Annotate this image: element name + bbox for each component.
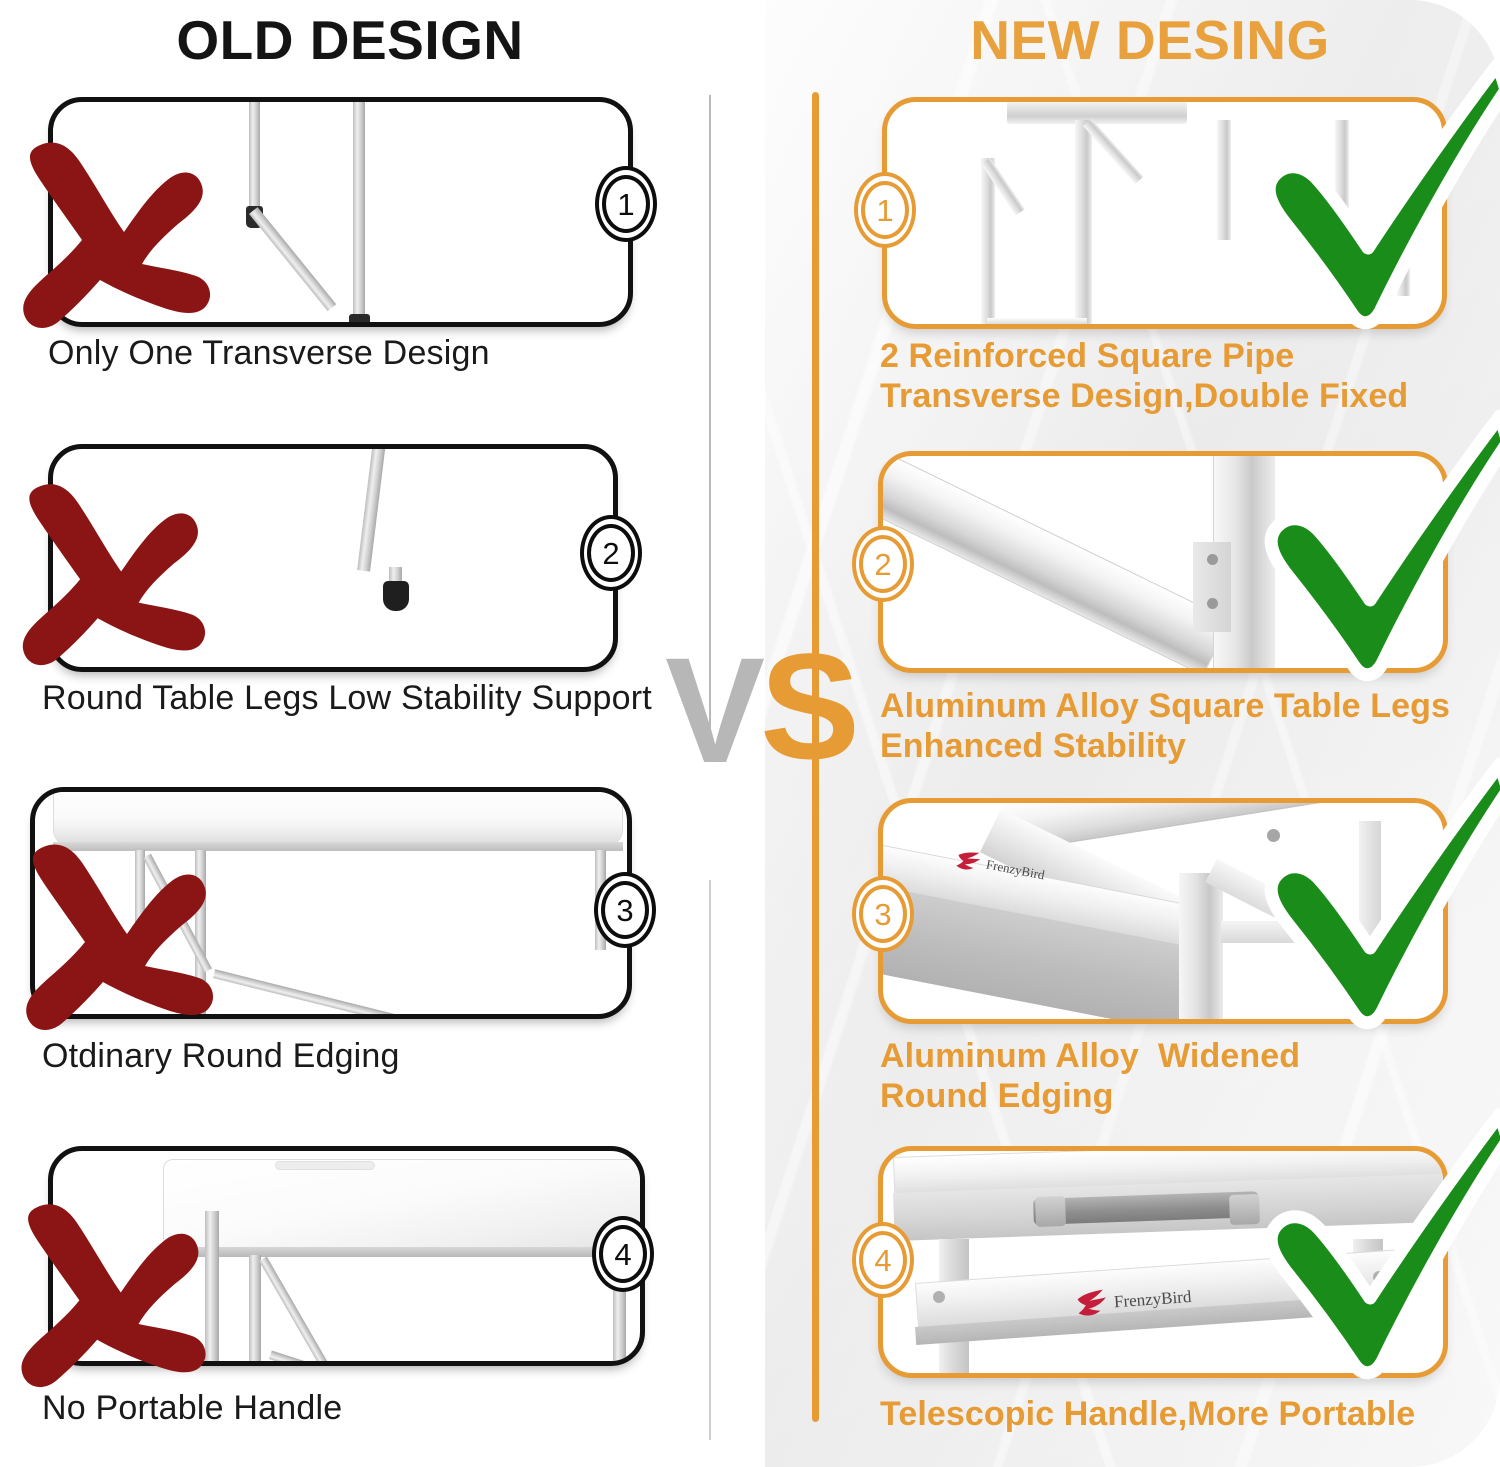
frenzybird-bird-icon bbox=[954, 847, 984, 876]
old-item-caption-2: Round Table Legs Low Stability Support bbox=[42, 678, 682, 718]
green-check-icon bbox=[1260, 52, 1500, 352]
old-badge-number-1: 1 bbox=[617, 189, 634, 220]
new-number-badge-3: 3 bbox=[852, 876, 914, 952]
old-number-badge-3: 3 bbox=[594, 872, 656, 948]
brand-logo-text-row4: FrenzyBird bbox=[1113, 1286, 1192, 1311]
infographic-root: OLD DESIGN NEW DESING V S 1 Only One Tra… bbox=[0, 0, 1500, 1467]
old-badge-number-3: 3 bbox=[616, 895, 633, 926]
old-item-caption-3: Otdinary Round Edging bbox=[42, 1036, 682, 1076]
green-check-icon bbox=[1262, 1102, 1500, 1402]
new-number-badge-1: 1 bbox=[854, 172, 916, 248]
old-badge-number-2: 2 bbox=[602, 538, 619, 569]
new-badge-number-3: 3 bbox=[874, 899, 891, 930]
red-x-icon bbox=[2, 470, 207, 670]
red-x-icon bbox=[2, 128, 212, 333]
column-divider-bottom bbox=[709, 880, 711, 1440]
green-check-icon bbox=[1262, 404, 1500, 704]
versus-letter-v: V bbox=[665, 630, 765, 790]
old-number-badge-4: 4 bbox=[592, 1216, 654, 1292]
versus-badge: V S bbox=[655, 630, 865, 790]
old-badge-number-4: 4 bbox=[614, 1239, 631, 1270]
frenzybird-bird-icon bbox=[1074, 1287, 1110, 1320]
old-item-caption-4: No Portable Handle bbox=[42, 1388, 682, 1428]
new-number-badge-2: 2 bbox=[852, 526, 914, 602]
versus-letter-s: S bbox=[760, 626, 860, 786]
old-design-heading: OLD DESIGN bbox=[0, 8, 700, 72]
red-x-icon bbox=[0, 1190, 208, 1392]
old-number-badge-1: 1 bbox=[595, 166, 657, 242]
old-number-badge-2: 2 bbox=[580, 515, 642, 591]
red-x-icon bbox=[4, 830, 216, 1035]
new-badge-number-2: 2 bbox=[874, 549, 891, 580]
old-item-caption-1: Only One Transverse Design bbox=[48, 333, 668, 373]
green-check-icon bbox=[1262, 752, 1500, 1052]
new-badge-number-1: 1 bbox=[876, 195, 893, 226]
new-badge-number-4: 4 bbox=[874, 1245, 891, 1276]
new-number-badge-4: 4 bbox=[852, 1222, 914, 1298]
